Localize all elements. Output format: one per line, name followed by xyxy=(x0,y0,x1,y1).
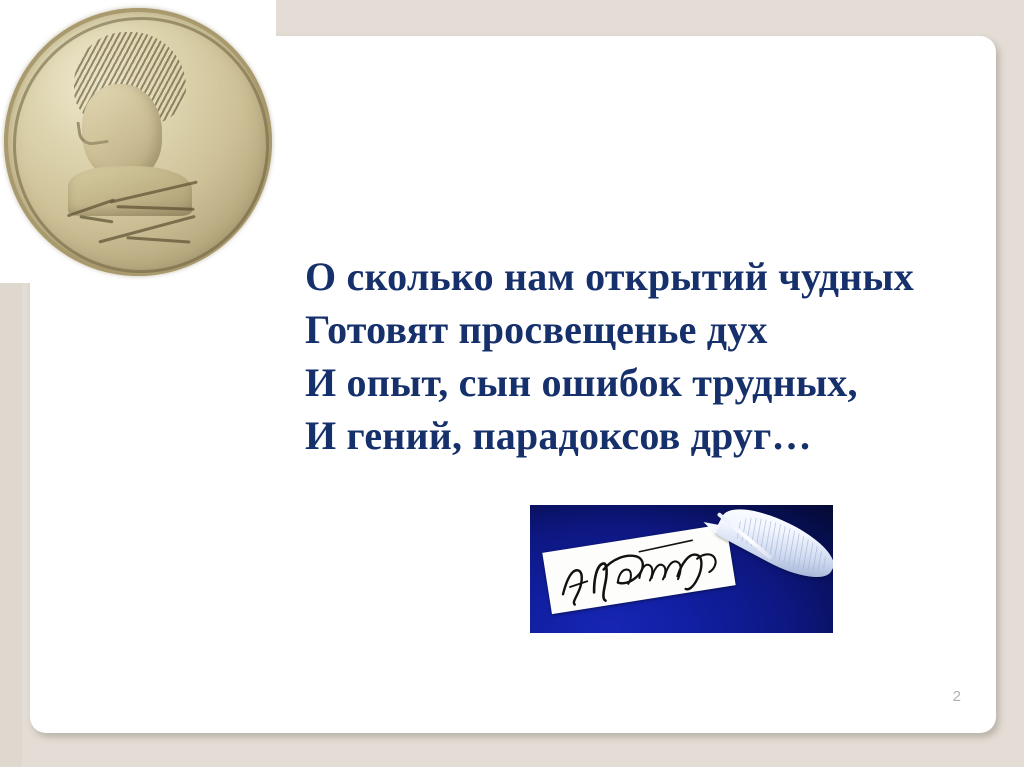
coin-disc xyxy=(4,8,272,276)
pushkin-coin-image xyxy=(0,0,276,283)
page-number: 2 xyxy=(953,688,961,705)
poem-line-1: О сколько нам открытий чудных xyxy=(305,250,996,303)
poem-line-2: Готовят просвещенье дух xyxy=(305,303,996,356)
quill-feather-icon xyxy=(698,505,833,612)
slide-stage: О сколько нам открытий чудных Готовят пр… xyxy=(0,0,1024,767)
poem-line-3: И опыт, сын ошибок трудных, xyxy=(305,356,996,409)
coin-portrait-nose xyxy=(76,118,108,147)
poem-line-4: И гений, парадоксов друг… xyxy=(305,409,996,462)
poem-text-block: О сколько нам открытий чудных Готовят пр… xyxy=(305,250,996,462)
pushkin-signature-quill-image xyxy=(530,505,833,633)
